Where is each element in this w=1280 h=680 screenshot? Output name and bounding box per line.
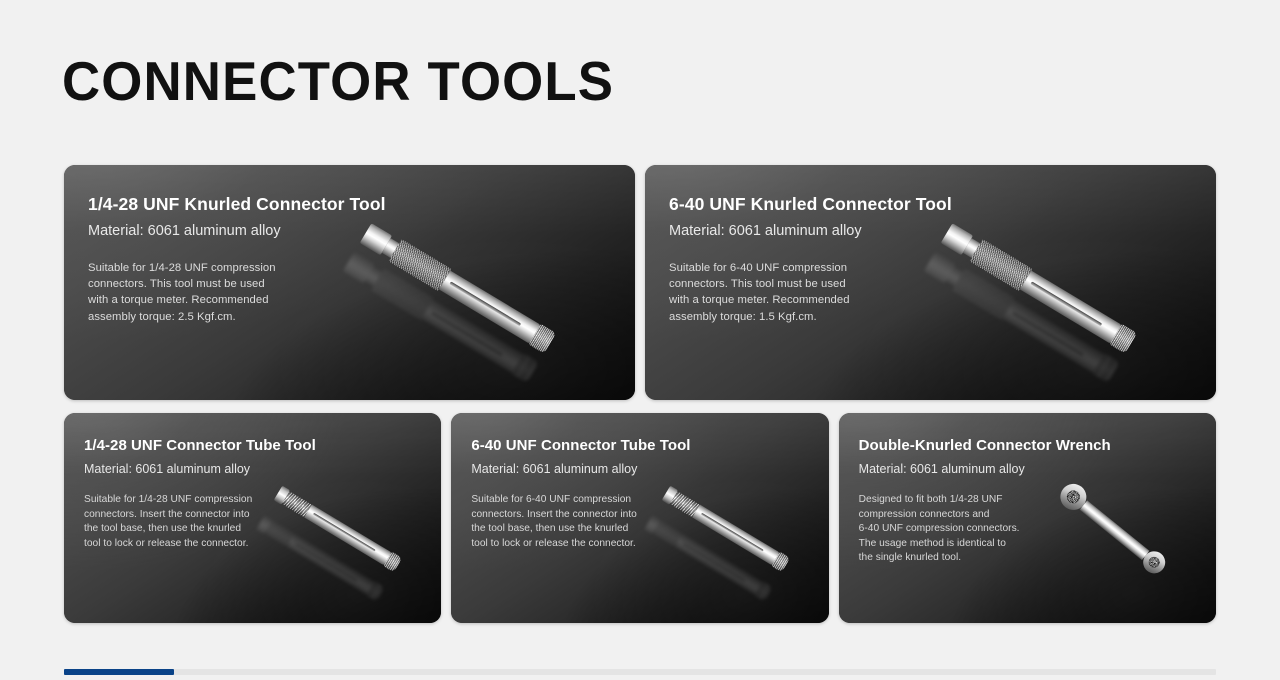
product-card-double-knurled-wrench[interactable]: Double-Knurled Connector Wrench Material… xyxy=(839,413,1216,623)
description-line: assembly torque: 2.5 Kgf.cm. xyxy=(88,309,388,325)
page-title: CONNECTOR TOOLS xyxy=(62,50,614,112)
description-line: with a torque meter. Recommended xyxy=(669,292,969,308)
product-card-knurled-quarter-28[interactable]: 1/4-28 UNF Knurled Connector Tool Materi… xyxy=(64,165,635,400)
product-card-tube-6-40[interactable]: 6-40 UNF Connector Tube Tool Material: 6… xyxy=(451,413,828,623)
card-description: Suitable for 6-40 UNF compression connec… xyxy=(669,260,969,325)
card-description: Suitable for 1/4-28 UNF compression conn… xyxy=(84,493,314,551)
scroll-indicator-track[interactable] xyxy=(64,669,1216,675)
description-line: Suitable for 1/4-28 UNF compression xyxy=(84,493,314,508)
card-description: Designed to fit both 1/4-28 UNF compress… xyxy=(859,493,1089,566)
card-copy: 1/4-28 UNF Connector Tube Tool Material:… xyxy=(84,436,314,551)
card-title: 6-40 UNF Knurled Connector Tool xyxy=(669,193,969,215)
card-description: Suitable for 1/4-28 UNF compression conn… xyxy=(88,260,388,325)
card-material: Material: 6061 aluminum alloy xyxy=(669,222,969,241)
description-line: with a torque meter. Recommended xyxy=(88,292,388,308)
description-line: tool to lock or release the connector. xyxy=(84,537,314,552)
card-copy: 1/4-28 UNF Knurled Connector Tool Materi… xyxy=(88,193,388,325)
card-description: Suitable for 6-40 UNF compression connec… xyxy=(471,493,701,551)
card-material: Material: 6061 aluminum alloy xyxy=(88,222,388,241)
description-line: assembly torque: 1.5 Kgf.cm. xyxy=(669,309,969,325)
card-title: 1/4-28 UNF Knurled Connector Tool xyxy=(88,193,388,215)
description-line: Suitable for 6-40 UNF compression xyxy=(669,260,969,276)
description-line: tool to lock or release the connector. xyxy=(471,537,701,552)
description-line: the single knurled tool. xyxy=(859,551,1089,566)
description-line: connectors. Insert the connector into xyxy=(471,508,701,523)
card-material: Material: 6061 aluminum alloy xyxy=(859,461,1089,478)
page-root: CONNECTOR TOOLS 1/4-28 U xyxy=(0,0,1280,680)
description-line: connectors. Insert the connector into xyxy=(84,508,314,523)
card-title: Double-Knurled Connector Wrench xyxy=(859,436,1089,455)
card-copy: Double-Knurled Connector Wrench Material… xyxy=(859,436,1089,566)
description-line: The usage method is identical to xyxy=(859,537,1089,552)
card-grid-top-row: 1/4-28 UNF Knurled Connector Tool Materi… xyxy=(64,165,1216,400)
card-copy: 6-40 UNF Connector Tube Tool Material: 6… xyxy=(471,436,701,551)
card-title: 6-40 UNF Connector Tube Tool xyxy=(471,436,701,455)
description-line: Designed to fit both 1/4-28 UNF xyxy=(859,493,1089,508)
description-line: Suitable for 6-40 UNF compression xyxy=(471,493,701,508)
product-card-tube-quarter-28[interactable]: 1/4-28 UNF Connector Tube Tool Material:… xyxy=(64,413,441,623)
description-line: connectors. This tool must be used xyxy=(669,276,969,292)
description-line: 6-40 UNF compression connectors. xyxy=(859,522,1089,537)
scroll-indicator-thumb[interactable] xyxy=(64,669,174,675)
card-material: Material: 6061 aluminum alloy xyxy=(84,461,314,478)
description-line: Suitable for 1/4-28 UNF compression xyxy=(88,260,388,276)
card-grid-bottom-row: 1/4-28 UNF Connector Tube Tool Material:… xyxy=(64,413,1216,623)
description-line: compression connectors and xyxy=(859,508,1089,523)
description-line: the tool base, then use the knurled xyxy=(471,522,701,537)
product-card-knurled-6-40[interactable]: 6-40 UNF Knurled Connector Tool Material… xyxy=(645,165,1216,400)
card-copy: 6-40 UNF Knurled Connector Tool Material… xyxy=(669,193,969,325)
description-line: the tool base, then use the knurled xyxy=(84,522,314,537)
description-line: connectors. This tool must be used xyxy=(88,276,388,292)
card-material: Material: 6061 aluminum alloy xyxy=(471,461,701,478)
card-title: 1/4-28 UNF Connector Tube Tool xyxy=(84,436,314,455)
